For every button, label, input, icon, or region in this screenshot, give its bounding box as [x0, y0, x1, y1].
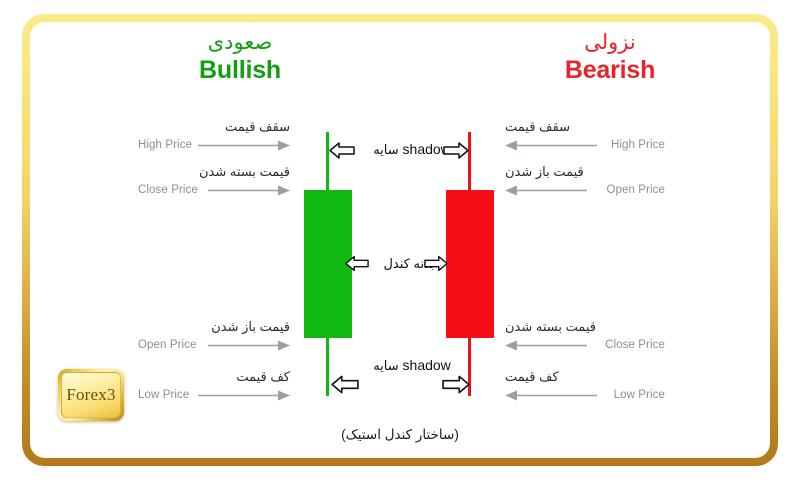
- title-bearish-en: Bearish: [520, 55, 700, 85]
- label-left-open-price-en: Open Price: [138, 338, 197, 353]
- diagram-caption: (ساختار کندل استیک): [300, 427, 500, 443]
- block-arrow-left-icon: [331, 375, 359, 394]
- label-right-high-price-fa: سقف قیمت: [505, 118, 570, 135]
- block-arrow-right-icon: [424, 255, 448, 272]
- block-arrow-right-icon: [443, 142, 469, 159]
- forex3-logo-badge: Forex3: [58, 369, 124, 421]
- label-right-low-price-en: Low Price: [614, 388, 665, 403]
- label-left-close-price-en: Close Price: [138, 183, 198, 198]
- arrow-left-icon: [505, 390, 597, 401]
- arrow-right-icon: [198, 140, 290, 151]
- forex3-logo-text: Forex3: [66, 385, 115, 405]
- annotation-shadow-top-fa: سایه: [373, 142, 398, 157]
- title-bearish: نزولی Bearish: [520, 30, 700, 85]
- label-left-open-price: قیمت باز شدن Open Price: [138, 318, 290, 358]
- label-right-open-price-en: Open Price: [606, 183, 665, 198]
- forex3-logo-inner: Forex3: [61, 372, 121, 418]
- title-bearish-fa: نزولی: [520, 30, 700, 55]
- label-left-open-price-fa: قیمت باز شدن: [211, 318, 290, 335]
- label-left-low-price: کف قیمت Low Price: [138, 368, 290, 408]
- label-left-low-price-en: Low Price: [138, 388, 189, 403]
- arrow-left-icon: [505, 140, 597, 151]
- arrow-right-icon: [198, 390, 290, 401]
- label-right-low-price: کف قیمت Low Price: [505, 368, 665, 408]
- label-right-open-price: قیمت باز شدن Open Price: [505, 163, 665, 203]
- label-right-close-price: قیمت بسته شدن Close Price: [505, 318, 665, 358]
- annotation-shadow-bottom: سایه shadow: [355, 357, 469, 374]
- label-right-close-price-fa: قیمت بسته شدن: [505, 318, 596, 335]
- label-right-low-price-fa: کف قیمت: [505, 368, 559, 385]
- title-bullish-en: Bullish: [150, 55, 330, 85]
- title-bullish: صعودی Bullish: [150, 30, 330, 85]
- label-left-high-price-en: High Price: [138, 138, 192, 153]
- label-left-close-price-fa: قیمت بسته شدن: [199, 163, 290, 180]
- label-left-high-price-fa: سقف قیمت: [225, 118, 290, 135]
- arrow-right-icon: [208, 185, 290, 196]
- diagram-canvas: صعودی Bullish نزولی Bearish سقف قیمت Hig…: [0, 0, 800, 480]
- title-bullish-fa: صعودی: [150, 30, 330, 55]
- arrow-left-icon: [505, 185, 587, 196]
- label-right-open-price-fa: قیمت باز شدن: [505, 163, 584, 180]
- label-right-high-price-en: High Price: [611, 138, 665, 153]
- label-left-high-price: سقف قیمت High Price: [138, 118, 290, 158]
- annotation-shadow-bottom-en: shadow: [403, 357, 451, 373]
- label-left-close-price: قیمت بسته شدن Close Price: [138, 163, 290, 203]
- bearish-candle-body: [446, 190, 494, 338]
- label-right-close-price-en: Close Price: [605, 338, 665, 353]
- label-right-high-price: سقف قیمت High Price: [505, 118, 665, 158]
- block-arrow-left-icon: [345, 255, 369, 272]
- arrow-right-icon: [208, 340, 290, 351]
- arrow-left-icon: [505, 340, 587, 351]
- label-left-low-price-fa: کف قیمت: [236, 368, 290, 385]
- annotation-shadow-bottom-fa: سایه: [373, 358, 398, 373]
- block-arrow-right-icon: [442, 375, 470, 394]
- block-arrow-left-icon: [329, 142, 355, 159]
